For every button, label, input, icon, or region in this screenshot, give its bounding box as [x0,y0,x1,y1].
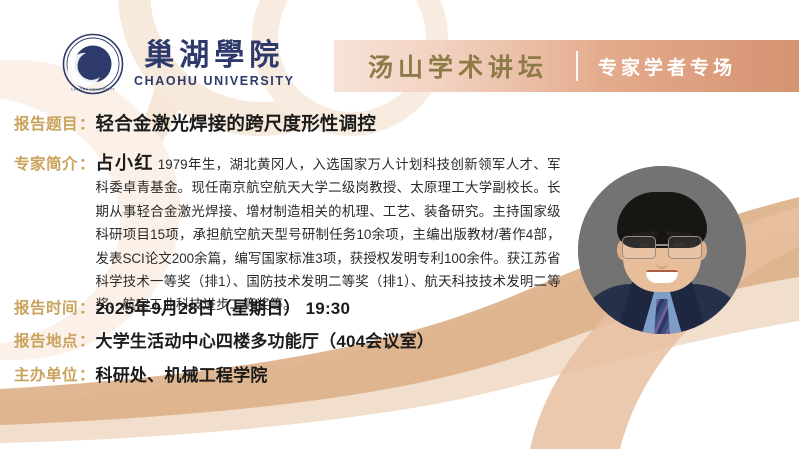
speaker-bio-row: 专家简介 ： 占小红1979年生，湖北黄冈人，入选国家万人计划科技创新领军人才、… [14,152,574,317]
speaker-bio-text: 1979年生，湖北黄冈人，入选国家万人计划科技创新领军人才、军科委卓青基金。现任… [96,157,561,312]
report-title-label: 报告题目 [14,112,78,134]
speaker-bio-label: 专家简介 [14,152,78,174]
report-place-colon: ： [79,329,95,351]
report-time-colon: ： [79,296,95,318]
report-place-label: 报告地点 [14,329,78,351]
report-title-row: 报告题目 ： 轻合金激光焊接的跨尺度形性调控 [14,110,376,136]
report-place-row: 报告地点 ： 大学生活动中心四楼多功能厅（404会议室） [14,327,434,352]
report-time-label: 报告时间 [14,296,78,318]
portrait-nose [656,254,669,269]
portrait-glasses-bridge [656,244,668,246]
portrait-mouth [646,270,678,283]
organizer-label: 主办单位 [14,363,78,385]
speaker-bio-colon: ： [79,152,95,174]
organizer-value: 科研处、机械工程学院 [96,361,268,386]
report-title-colon: ： [79,112,95,134]
organizer-colon: ： [79,363,95,385]
lecture-poster: 1977 CHAOHU UNIVERSITY 巢湖學院 CHAOHU UNIVE… [0,0,799,449]
portrait-lens-left [622,236,656,259]
speaker-portrait: speaker-portrait-photo [578,166,746,334]
report-time-value: 2025年9月28日（星期日） 19:30 [96,294,351,319]
speaker-name: 占小红 [96,153,154,173]
portrait-lens-right [668,236,702,259]
report-place-value: 大学生活动中心四楼多功能厅（404会议室） [96,327,435,352]
report-title-value: 轻合金激光焊接的跨尺度形性调控 [96,110,377,136]
speaker-bio-body: 占小红1979年生，湖北黄冈人，入选国家万人计划科技创新领军人才、军科委卓青基金… [96,152,561,317]
report-time-row: 报告时间 ： 2025年9月28日（星期日） 19:30 [14,294,350,319]
organizer-row: 主办单位 ： 科研处、机械工程学院 [14,361,268,386]
